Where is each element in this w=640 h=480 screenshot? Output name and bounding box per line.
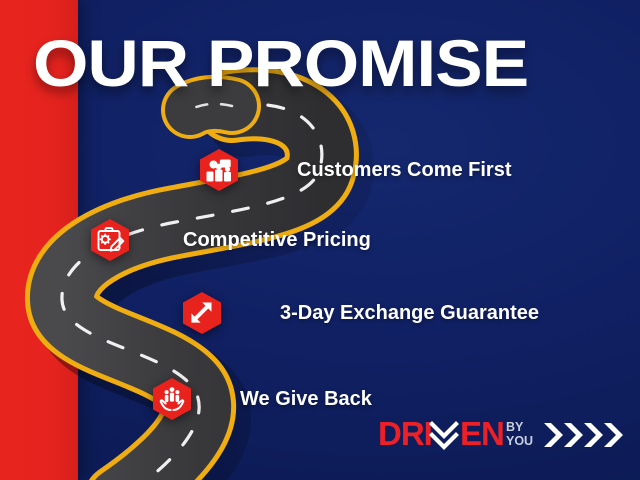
feature-item-we-give-back[interactable]: We Give Back — [150, 377, 372, 421]
hands-holding-people-icon — [150, 377, 194, 421]
feature-label: Customers Come First — [297, 159, 512, 182]
logo-chevron-arrows-icon — [544, 423, 623, 447]
feature-label: Competitive Pricing — [183, 229, 371, 252]
logo-word-part2: EN — [460, 415, 504, 452]
feature-item-customers-come-first[interactable]: Customers Come First — [197, 148, 512, 192]
feature-item-exchange-guarantee[interactable]: 3-Day Exchange Guarantee — [180, 291, 539, 335]
logo-chevron-v-icon — [432, 424, 456, 447]
driven-by-you-logo[interactable]: DRI EN BY YOU — [378, 416, 630, 456]
clipboard-price-gear-icon — [88, 218, 132, 262]
logo-tagline-you: YOU — [506, 434, 533, 448]
feature-item-competitive-pricing[interactable]: Competitive Pricing — [88, 218, 371, 262]
feature-label: We Give Back — [240, 388, 372, 411]
feature-label: 3-Day Exchange Guarantee — [280, 302, 539, 325]
page-title: OUR PROMISE — [33, 30, 528, 96]
road-far-taper — [190, 104, 232, 110]
logo-tagline-by: BY — [506, 420, 524, 434]
people-group-icon — [197, 148, 241, 192]
exchange-arrows-icon — [180, 291, 224, 335]
promise-poster: OUR PROMISE Customers Come First — [0, 0, 640, 480]
logo-word-part1: DRI — [378, 415, 432, 452]
